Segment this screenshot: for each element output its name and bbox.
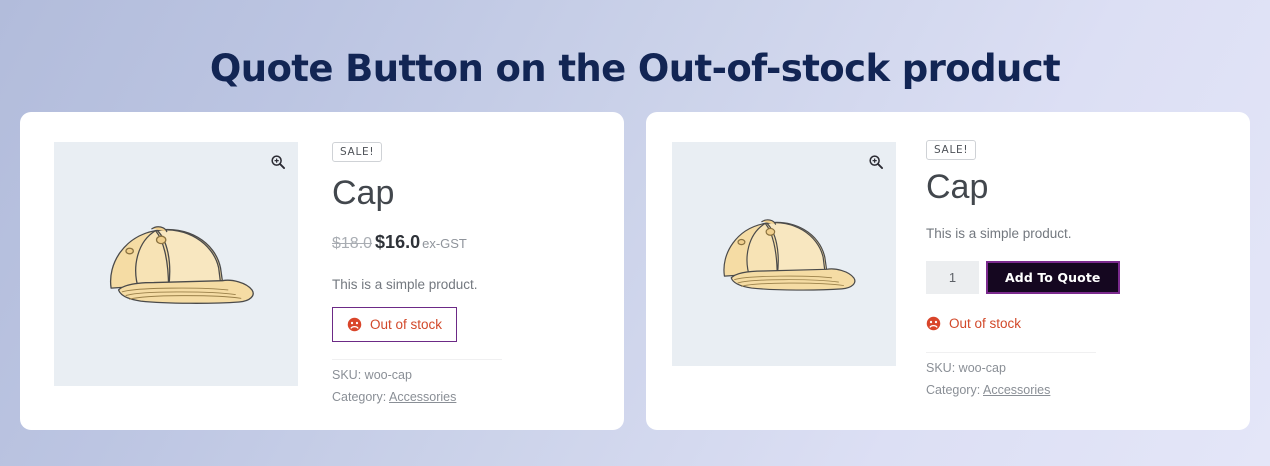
cap-illustration-icon — [699, 203, 869, 305]
magnifier-plus-icon[interactable] — [270, 154, 286, 170]
category-link[interactable]: Accessories — [389, 390, 456, 404]
product-image-right[interactable] — [672, 142, 896, 366]
product-short-description: This is a simple product. — [332, 277, 604, 292]
price-sale: $16.0 — [375, 232, 420, 252]
cap-illustration-icon — [83, 208, 268, 319]
product-image-left[interactable] — [54, 142, 298, 386]
product-summary-right: SALE! Cap This is a simple product. Add … — [896, 112, 1250, 430]
product-cards-row: SALE! Cap $18.0$16.0ex-GST This is a sim… — [0, 87, 1270, 430]
product-category: Category: Accessories — [332, 390, 604, 404]
category-label: Category: — [332, 390, 386, 404]
product-title: Cap — [332, 176, 604, 212]
page-title: Quote Button on the Out-of-stock product — [0, 0, 1270, 87]
price-tax-suffix: ex-GST — [422, 236, 467, 251]
product-summary-left: SALE! Cap $18.0$16.0ex-GST This is a sim… — [298, 112, 624, 430]
product-title: Cap — [926, 170, 1230, 206]
sale-badge: SALE! — [332, 142, 382, 162]
frowning-face-icon — [347, 317, 362, 332]
out-of-stock-label: Out of stock — [370, 317, 442, 332]
out-of-stock-badge: Out of stock — [332, 307, 457, 342]
meta-divider — [332, 359, 502, 360]
product-card-with-price: SALE! Cap $18.0$16.0ex-GST This is a sim… — [20, 112, 624, 430]
category-label: Category: — [926, 383, 980, 397]
product-short-description: This is a simple product. — [926, 226, 1230, 241]
sku-label: SKU: — [332, 368, 361, 382]
category-link[interactable]: Accessories — [983, 383, 1050, 397]
out-of-stock-label: Out of stock — [949, 316, 1021, 331]
out-of-stock-badge: Out of stock — [926, 316, 1021, 331]
price-original: $18.0 — [332, 235, 372, 252]
sale-badge: SALE! — [926, 140, 976, 160]
meta-divider — [926, 352, 1096, 353]
product-card-with-quote-button: SALE! Cap This is a simple product. Add … — [646, 112, 1250, 430]
magnifier-plus-icon[interactable] — [868, 154, 884, 170]
add-to-quote-button[interactable]: Add To Quote — [986, 261, 1120, 294]
sku-value: woo-cap — [365, 368, 412, 382]
sku-value: woo-cap — [959, 361, 1006, 375]
sku-label: SKU: — [926, 361, 955, 375]
frowning-face-icon — [926, 316, 941, 331]
product-sku: SKU: woo-cap — [926, 361, 1230, 375]
product-sku: SKU: woo-cap — [332, 368, 604, 382]
add-to-quote-form: Add To Quote — [926, 261, 1230, 294]
product-category: Category: Accessories — [926, 383, 1230, 397]
quantity-input[interactable] — [926, 261, 979, 294]
product-price: $18.0$16.0ex-GST — [332, 232, 604, 253]
